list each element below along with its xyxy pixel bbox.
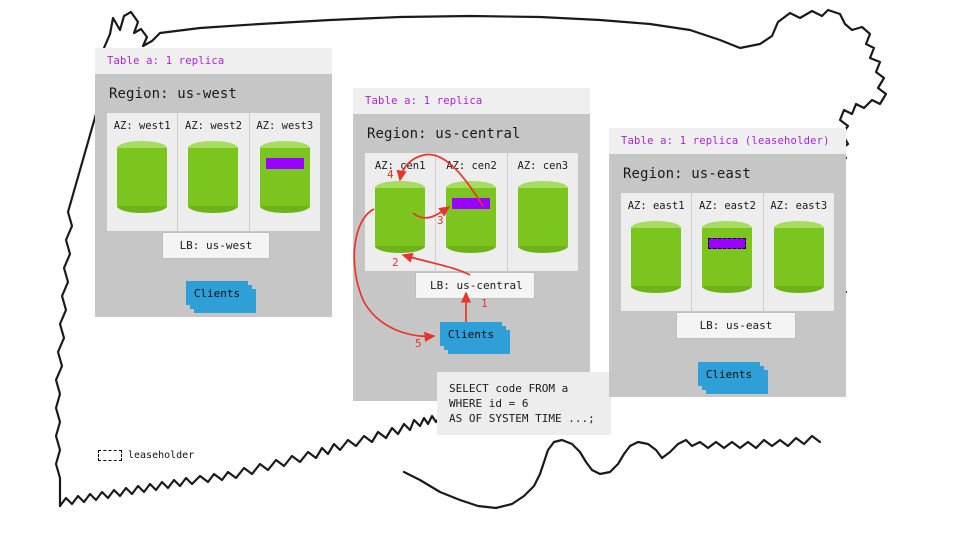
flow-number-2: 2 (392, 256, 399, 269)
az-east1[interactable]: AZ: east1 (621, 193, 692, 311)
az-cen2[interactable]: AZ: cen2 (436, 153, 507, 271)
az-west3[interactable]: AZ: west3 (250, 113, 320, 231)
replica-block-cen2 (452, 198, 490, 209)
az-label: AZ: west2 (185, 120, 242, 132)
flow-number-3: 3 (437, 214, 444, 227)
us-map-gulf-coast (404, 440, 662, 508)
region-title-us-east: Region: us-east (621, 154, 834, 193)
az-label: AZ: west3 (256, 120, 313, 132)
clients-us-west[interactable]: Clients (186, 281, 260, 317)
clients-us-east[interactable]: Clients (698, 362, 772, 398)
replica-block-west3 (266, 158, 304, 169)
leaseholder-swatch-icon (98, 450, 122, 461)
az-cen1[interactable]: AZ: cen1 (365, 153, 436, 271)
az-label: AZ: cen1 (375, 160, 426, 172)
az-label: AZ: east2 (699, 200, 756, 212)
cylinder-body (631, 228, 681, 286)
flow-number-5: 5 (415, 337, 422, 350)
region-panel-us-west: Table a: 1 replica Region: us-west AZ: w… (95, 48, 332, 317)
region-body-us-east: Region: us-east AZ: east1 AZ: east2 (609, 154, 846, 397)
cylinder-body (446, 188, 496, 246)
legend: leaseholder (98, 450, 194, 461)
legend-label: leaseholder (128, 450, 194, 461)
load-balancer-us-east[interactable]: LB: us-east (676, 312, 796, 339)
clients-card-front[interactable]: Clients (440, 322, 502, 346)
cylinder-body (375, 188, 425, 246)
clients-card-front[interactable]: Clients (698, 362, 760, 386)
sql-query-note: SELECT code FROM a WHERE id = 6 AS OF SY… (437, 372, 611, 435)
az-label: AZ: cen3 (518, 160, 569, 172)
cylinder-body (260, 148, 310, 206)
cylinder-body (774, 228, 824, 286)
clients-card-front[interactable]: Clients (186, 281, 248, 305)
az-row-us-east: AZ: east1 AZ: east2 AZ: east3 (621, 193, 834, 311)
load-balancer-us-west[interactable]: LB: us-west (162, 232, 270, 259)
az-west2[interactable]: AZ: west2 (178, 113, 249, 231)
us-map-florida (662, 436, 820, 458)
region-title-us-central: Region: us-central (365, 114, 578, 153)
node-cylinder-cen2[interactable] (446, 181, 496, 253)
region-panel-us-east: Table a: 1 replica (leaseholder) Region:… (609, 128, 846, 397)
az-row-us-west: AZ: west1 AZ: west2 AZ: west3 (107, 113, 320, 231)
az-east2[interactable]: AZ: east2 (692, 193, 763, 311)
load-balancer-us-central[interactable]: LB: us-central (415, 272, 535, 299)
replica-banner-us-central: Table a: 1 replica (353, 88, 590, 114)
az-east3[interactable]: AZ: east3 (764, 193, 834, 311)
flow-number-4: 4 (387, 168, 394, 181)
region-title-us-west: Region: us-west (107, 74, 320, 113)
node-cylinder-east2[interactable] (702, 221, 752, 293)
az-label: AZ: cen2 (446, 160, 497, 172)
clients-us-central[interactable]: Clients (440, 322, 514, 358)
az-row-us-central: AZ: cen1 AZ: cen2 AZ: cen3 (365, 153, 578, 271)
az-label: AZ: west1 (114, 120, 171, 132)
node-cylinder-cen3[interactable] (518, 181, 568, 253)
leaseholder-replica-block-east2 (708, 238, 746, 249)
node-cylinder-west1[interactable] (117, 141, 167, 213)
az-cen3[interactable]: AZ: cen3 (508, 153, 578, 271)
cylinder-body (518, 188, 568, 246)
az-west1[interactable]: AZ: west1 (107, 113, 178, 231)
replica-banner-us-east: Table a: 1 replica (leaseholder) (609, 128, 846, 154)
node-cylinder-east3[interactable] (774, 221, 824, 293)
node-cylinder-east1[interactable] (631, 221, 681, 293)
cylinder-body (702, 228, 752, 286)
az-label: AZ: east1 (628, 200, 685, 212)
replica-banner-us-west: Table a: 1 replica (95, 48, 332, 74)
cylinder-body (188, 148, 238, 206)
node-cylinder-cen1[interactable] (375, 181, 425, 253)
node-cylinder-west2[interactable] (188, 141, 238, 213)
cylinder-body (117, 148, 167, 206)
node-cylinder-west3[interactable] (260, 141, 310, 213)
az-label: AZ: east3 (770, 200, 827, 212)
flow-number-1: 1 (481, 297, 488, 310)
